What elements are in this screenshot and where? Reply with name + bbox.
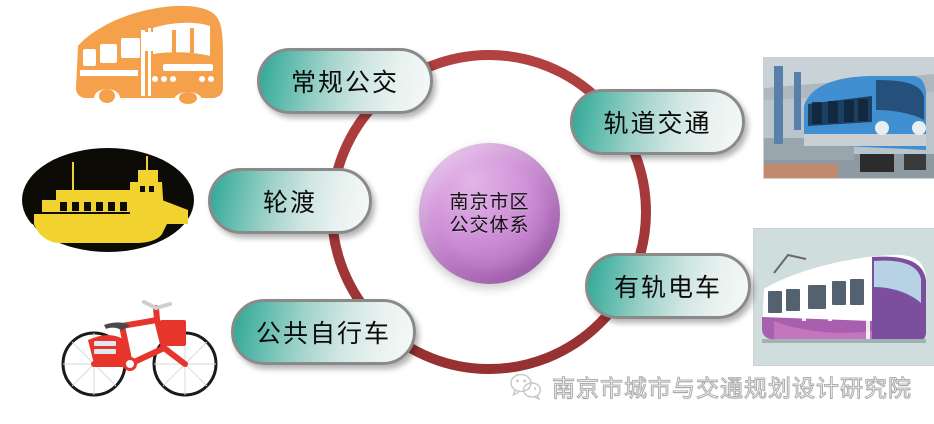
blue-metro-train-photo	[763, 57, 934, 179]
orange-bus-illustration	[60, 2, 230, 107]
node-rail-transit[interactable]: 轨道交通	[570, 89, 745, 155]
diagram-canvas: 常规公交 轮渡 公共自行车 轨道交通 有轨电车 南京市区 公交体系 南京	[0, 0, 934, 424]
purple-tram-photo	[753, 228, 934, 366]
node-public-bicycle-label: 公共自行车	[256, 314, 391, 350]
red-public-bicycle-photo	[52, 278, 227, 403]
center-node-public-transport-system[interactable]: 南京市区 公交体系	[419, 143, 560, 284]
watermark: 南京市城市与交通规划设计研究院	[509, 369, 912, 403]
node-tram[interactable]: 有轨电车	[585, 253, 751, 319]
node-tram-label: 有轨电车	[614, 268, 722, 304]
node-regular-bus-label: 常规公交	[291, 63, 399, 99]
watermark-text: 南京市城市与交通规划设计研究院	[552, 369, 912, 403]
node-ferry-label: 轮渡	[263, 183, 317, 219]
wechat-icon	[509, 372, 543, 400]
center-node-label: 南京市区 公交体系	[449, 191, 529, 236]
yellow-ferry-illustration	[12, 142, 208, 267]
node-regular-bus[interactable]: 常规公交	[257, 48, 433, 114]
node-rail-transit-label: 轨道交通	[603, 104, 711, 140]
node-ferry[interactable]: 轮渡	[208, 168, 372, 234]
node-public-bicycle[interactable]: 公共自行车	[231, 299, 416, 365]
